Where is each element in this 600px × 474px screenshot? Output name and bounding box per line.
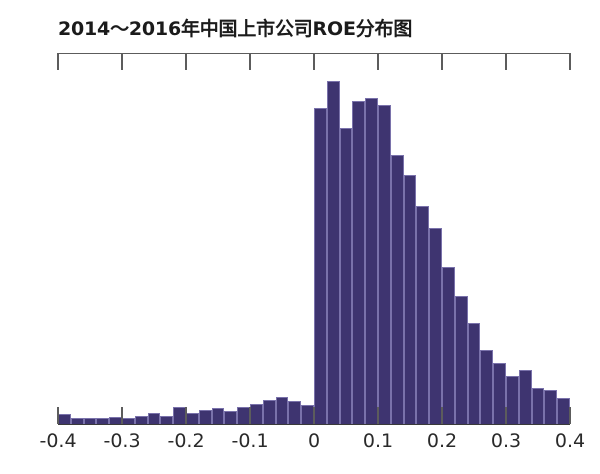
bottom-tick-5 [377, 407, 379, 424]
histogram-bar [301, 405, 314, 424]
tick-label-6: 0.2 [427, 430, 457, 452]
tick-label-3: -0.1 [231, 430, 268, 452]
histogram-bar [314, 108, 327, 424]
histogram-bar [493, 363, 506, 424]
histogram-bar [340, 128, 353, 424]
bottom-tick-2 [185, 407, 187, 424]
histogram-bar [352, 101, 365, 425]
bottom-tick-4 [313, 407, 315, 424]
histogram-bar [480, 350, 493, 424]
histogram-bar [58, 414, 71, 424]
tick-label-7: 0.3 [491, 430, 521, 452]
bottom-tick-6 [441, 407, 443, 424]
histogram-bar [544, 390, 557, 424]
plot-area [58, 53, 570, 424]
bottom-axis-spine [58, 424, 570, 425]
tick-label-2: -0.2 [167, 430, 204, 452]
histogram-bar [148, 413, 161, 424]
histogram-bars [58, 53, 570, 424]
bottom-tick-8 [569, 407, 571, 424]
histogram-bar [327, 81, 340, 424]
histogram-bar [404, 175, 417, 424]
histogram-bar [506, 376, 519, 424]
bottom-tick-3 [249, 407, 251, 424]
histogram-bar [160, 416, 173, 424]
histogram-bar [250, 404, 263, 424]
histogram-bar [391, 155, 404, 424]
tick-label-8: 0.4 [555, 430, 585, 452]
bottom-tick-1 [121, 407, 123, 424]
histogram-bar [109, 417, 122, 424]
histogram-bar [429, 228, 442, 424]
histogram-bar [212, 408, 225, 424]
histogram-bar [416, 206, 429, 424]
bottom-tick-7 [505, 407, 507, 424]
histogram-bar [532, 388, 545, 424]
chart-figure: 2014～2016年中国上市公司ROE分布图 -0.4-0.3-0.2-0.10… [0, 0, 600, 474]
x-axis-tick-labels: -0.4-0.3-0.2-0.100.10.20.30.4 [0, 430, 600, 464]
tick-label-4: 0 [308, 430, 320, 452]
bottom-tick-0 [57, 407, 59, 424]
histogram-bar [365, 98, 378, 424]
histogram-bar [519, 370, 532, 424]
tick-label-1: -0.3 [103, 430, 140, 452]
histogram-bar [288, 401, 301, 424]
tick-label-5: 0.1 [363, 430, 393, 452]
histogram-bar [224, 411, 237, 424]
histogram-bar [237, 407, 250, 424]
histogram-bar [276, 397, 289, 424]
chart-title: 2014～2016年中国上市公司ROE分布图 [58, 14, 412, 41]
histogram-bar [442, 267, 455, 424]
histogram-bar [135, 416, 148, 424]
histogram-bar [173, 407, 186, 424]
histogram-bar [199, 410, 212, 424]
histogram-bar [557, 398, 570, 424]
histogram-bar [378, 105, 391, 424]
histogram-bar [455, 296, 468, 424]
histogram-bar [263, 400, 276, 424]
histogram-bar [468, 323, 481, 424]
tick-label-0: -0.4 [39, 430, 76, 452]
histogram-bar [186, 413, 199, 424]
